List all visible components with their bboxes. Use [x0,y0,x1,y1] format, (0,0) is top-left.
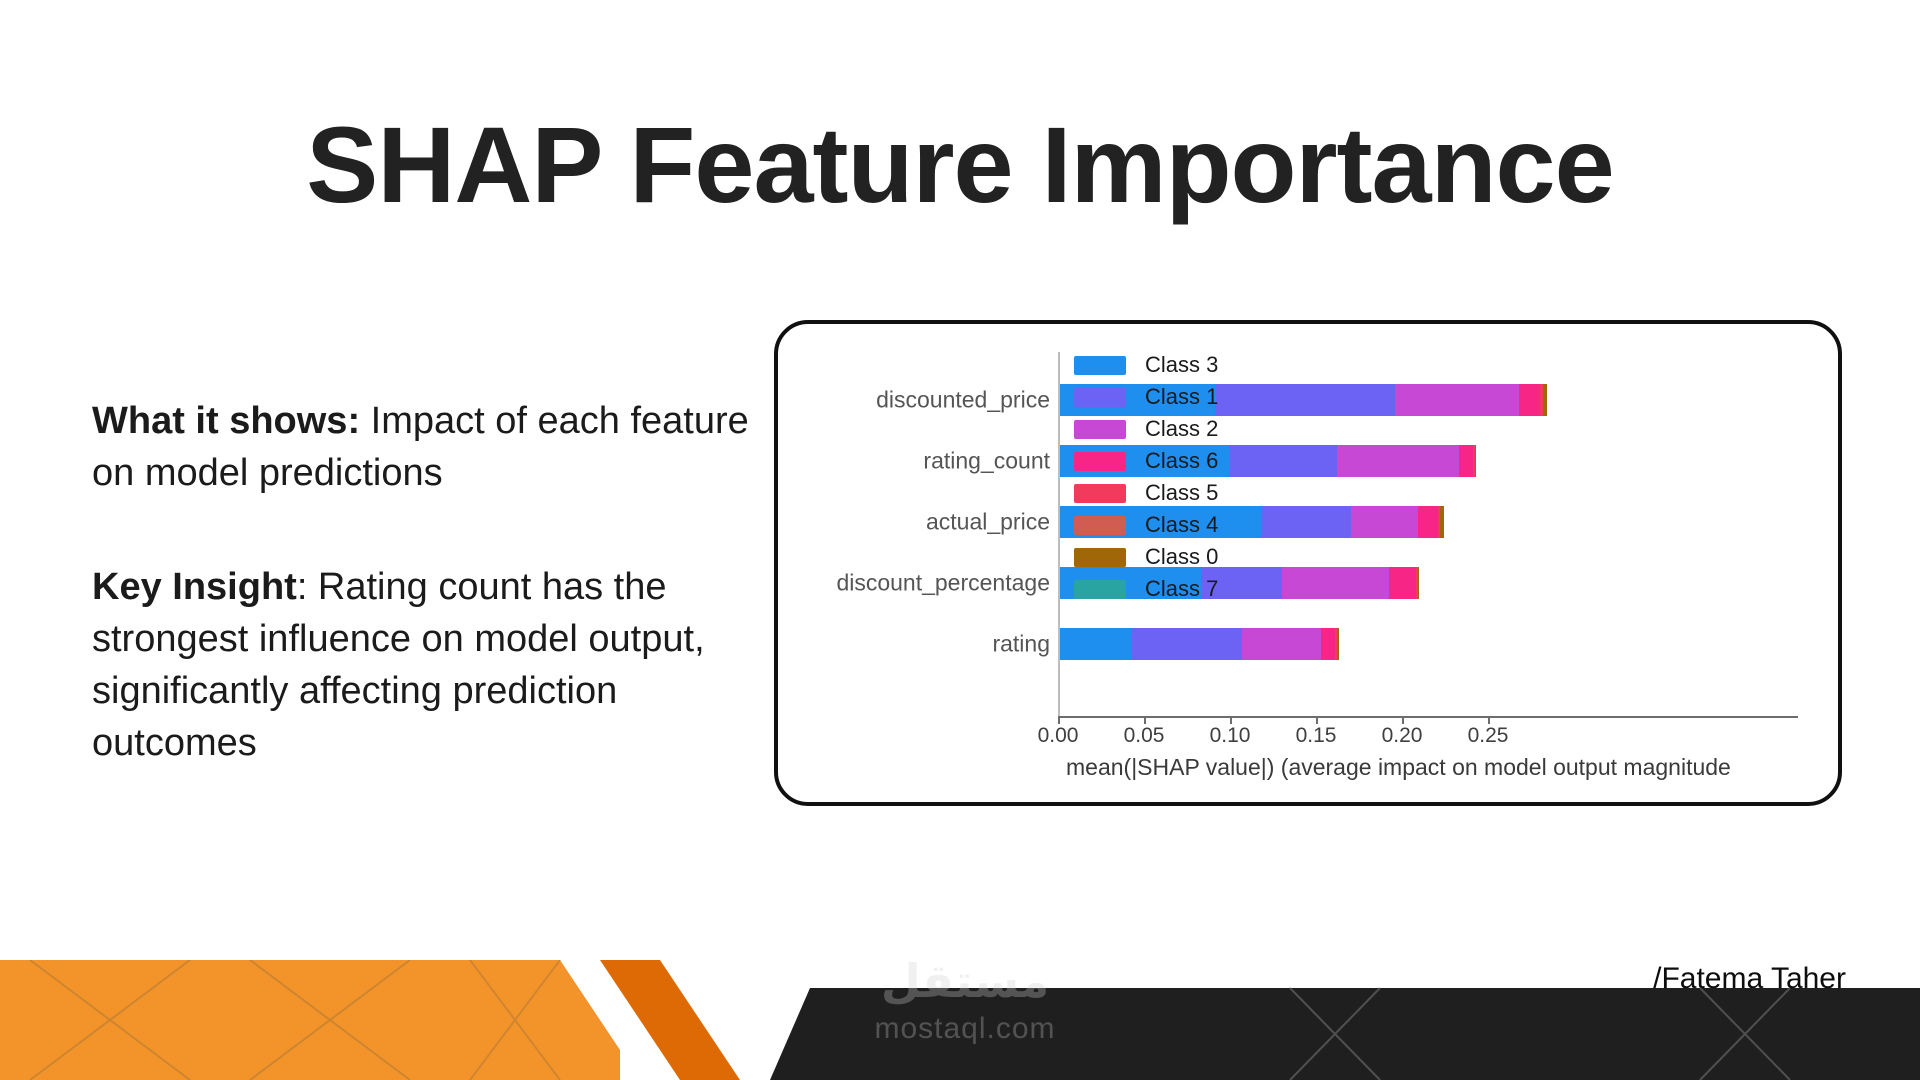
x-tick-label: 0.00 [1038,724,1079,748]
bar-segment [1215,384,1396,416]
bar-segment [1261,506,1350,538]
bar-segment [1418,506,1439,538]
legend-item[interactable]: Class 6 [1074,446,1218,476]
x-tick-label: 0.05 [1124,724,1165,748]
legend-label: Class 7 [1145,576,1218,602]
bar-segment [1459,445,1473,477]
bar-segment [1337,445,1459,477]
legend-label: Class 6 [1145,448,1218,474]
legend-label: Class 0 [1145,544,1218,570]
legend-swatch-icon [1074,388,1126,407]
legend-item[interactable]: Class 3 [1074,350,1218,380]
bar-segment [1395,384,1519,416]
x-tick-mark [1402,716,1404,724]
x-axis-title: mean(|SHAP value|) (average impact on mo… [1066,754,1731,781]
x-tick-mark [1144,716,1146,724]
bar-segment [1321,628,1335,660]
paragraph-what-it-shows: What it shows: Impact of each feature on… [92,395,772,499]
bar-segment [1351,506,1418,538]
x-tick-mark [1488,716,1490,724]
legend-item[interactable]: Class 5 [1074,478,1218,508]
bar-segment [1475,445,1477,477]
what-it-shows-label: What it shows: [92,400,360,442]
page-title: SHAP Feature Importance [0,108,1920,221]
legend-swatch-icon [1074,452,1126,471]
bar-segment [1337,628,1339,660]
x-axis-spine [1058,716,1798,718]
x-tick-mark [1316,716,1318,724]
bar-segment [1440,506,1443,538]
y-tick-label: actual_price [926,509,1050,536]
x-tick-mark [1058,716,1060,724]
bar-segment [1519,384,1540,416]
bar-segment [1132,628,1242,660]
legend-label: Class 2 [1145,416,1218,442]
y-tick-label: rating [992,631,1050,658]
legend-label: Class 1 [1145,384,1218,410]
legend-swatch-icon [1074,516,1126,535]
bar-segment [1543,384,1546,416]
legend-swatch-icon [1074,356,1126,375]
x-tick-label: 0.10 [1210,724,1251,748]
y-tick-label: rating_count [923,448,1050,475]
legend-label: Class 3 [1145,352,1218,378]
legend-label: Class 5 [1145,480,1218,506]
legend-label: Class 4 [1145,512,1218,538]
legend-swatch-icon [1074,484,1126,503]
bar-segment [1282,567,1389,599]
bar-segment [1418,567,1420,599]
x-tick-label: 0.20 [1382,724,1423,748]
slide-root: SHAP Feature Importance What it shows: I… [0,0,1920,1080]
key-insight-label: Key Insight [92,566,297,608]
legend-swatch-icon [1074,548,1126,567]
footer-decoration [0,960,1920,1080]
x-tick-label: 0.25 [1468,724,1509,748]
bar-segment [1060,628,1132,660]
footer-x-pattern-icon [0,960,1920,1080]
legend-item[interactable]: Class 1 [1074,382,1218,412]
body-text-column: What it shows: Impact of each feature on… [92,395,772,769]
legend-item[interactable]: Class 7 [1074,574,1218,604]
legend-swatch-icon [1074,580,1126,599]
legend-item[interactable]: Class 4 [1074,510,1218,540]
bar-segment [1389,567,1417,599]
legend-item[interactable]: Class 2 [1074,414,1218,444]
x-tick-mark [1230,716,1232,724]
x-tick-label: 0.15 [1296,724,1337,748]
paragraph-key-insight: Key Insight: Rating count has the strong… [92,561,772,769]
y-tick-label: discounted_price [876,387,1050,414]
shap-bar-chart: discounted_pricerating_countactual_price… [778,324,1838,802]
bar-segment [1242,628,1321,660]
shap-chart-card: discounted_pricerating_countactual_price… [774,320,1842,806]
bar-row [1060,628,1339,660]
chart-legend: Class 3Class 1Class 2Class 6Class 5Class… [1074,350,1218,606]
legend-swatch-icon [1074,420,1126,439]
bar-segment [1229,445,1337,477]
y-tick-label: discount_percentage [836,570,1050,597]
legend-item[interactable]: Class 0 [1074,542,1218,572]
